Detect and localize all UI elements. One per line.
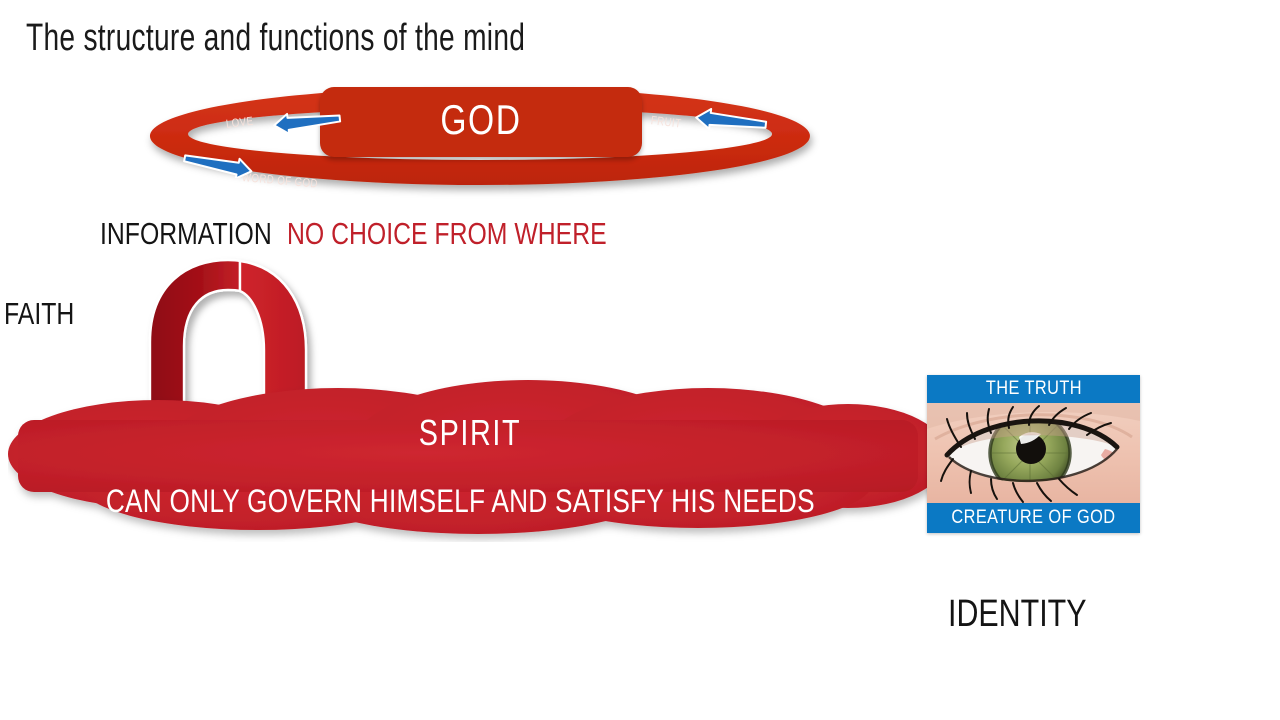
god-box: GOD (320, 87, 642, 157)
spirit-subtitle-text: CAN ONLY GOVERN HIMSELF AND SATISFY HIS … (105, 482, 814, 520)
truth-band: THE TRUTH (927, 375, 1140, 403)
no-choice-label: NO CHOICE FROM WHERE (287, 216, 607, 252)
identity-label: IDENTITY (948, 592, 1087, 636)
arrow-left-icon (690, 108, 770, 134)
arrow-left-icon (268, 110, 344, 134)
spirit-subtitle: CAN ONLY GOVERN HIMSELF AND SATISFY HIS … (0, 482, 920, 520)
spirit-label-text: SPIRIT (419, 412, 521, 454)
information-row: INFORMATION NO CHOICE FROM WHERE (100, 216, 687, 252)
god-box-label: GOD (352, 95, 610, 145)
page-title: The structure and functions of the mind (26, 16, 525, 60)
arrow-right-icon (180, 152, 258, 178)
god-cycle-diagram: GOD LOVE FRUIT WORD OF GOD (120, 78, 840, 203)
creature-of-god-label: CREATURE OF GOD (951, 503, 1115, 533)
creature-of-god-band: CREATURE OF GOD (927, 503, 1140, 533)
eye-icon (927, 403, 1140, 503)
faith-label: FAITH (4, 296, 74, 332)
information-label: INFORMATION (100, 216, 272, 252)
identity-card: THE TRUTH (927, 375, 1140, 533)
truth-band-label: THE TRUTH (985, 375, 1081, 403)
spirit-label: SPIRIT (0, 412, 940, 454)
